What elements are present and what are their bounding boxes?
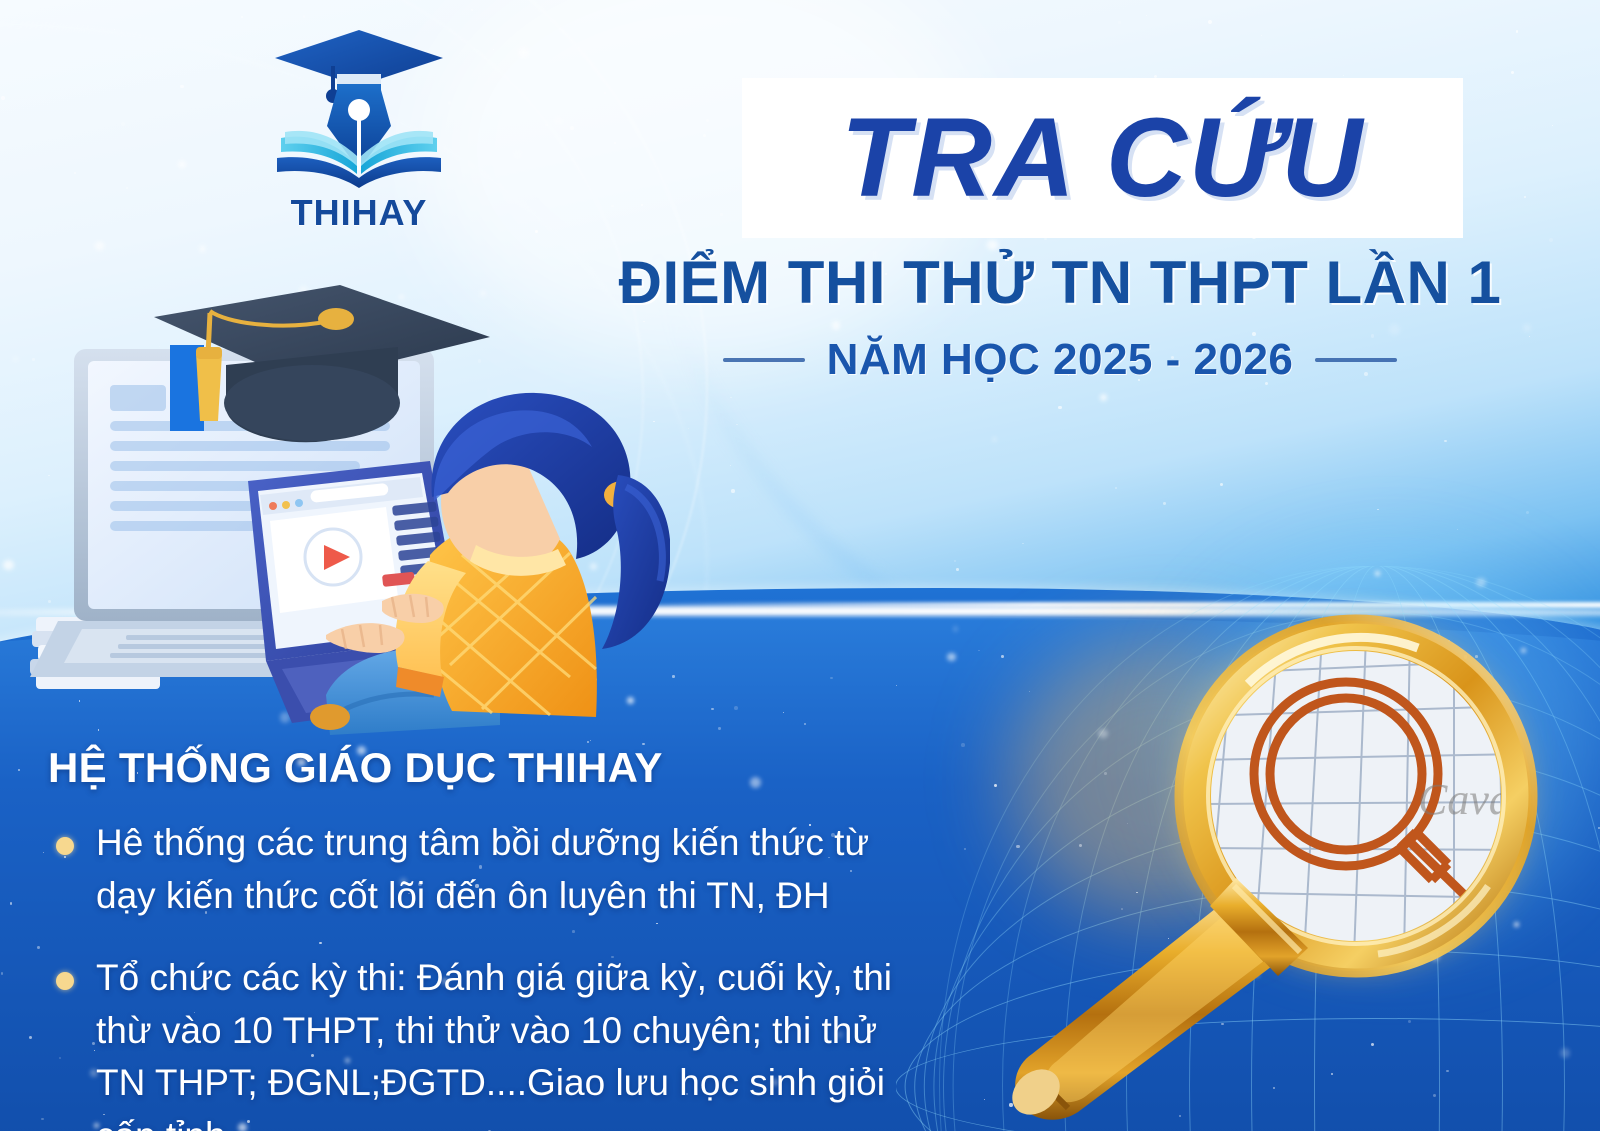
graduation-cap-pen-book-icon — [264, 18, 454, 190]
list-item-text: Hê thống các trung tâm bồi dưỡng kiến th… — [96, 822, 869, 916]
school-year-label: NĂM HỌC 2025 - 2026 — [827, 338, 1294, 382]
school-year-row: NĂM HỌC 2025 - 2026 — [560, 338, 1560, 382]
brand-logo: THIHAY — [264, 18, 454, 233]
list-item-text: Tổ chức các kỳ thi: Đánh giá giữa kỳ, cu… — [96, 957, 892, 1131]
magnifying-glass-icon: Cava — [948, 556, 1600, 1131]
bullet-dot-icon — [56, 837, 74, 855]
info-heading: HỆ THỐNG GIÁO DỤC THIHAY — [48, 745, 928, 791]
info-block: HỆ THỐNG GIÁO DỤC THIHAY Hê thống các tr… — [48, 745, 928, 1131]
bullet-dot-icon — [56, 972, 74, 990]
page-subtitle: ĐIỂM THI THỬ TN THPT LẦN 1 — [560, 253, 1560, 313]
list-item: Hê thống các trung tâm bồi dưỡng kiến th… — [48, 817, 928, 922]
graduation-cap-illustration — [154, 285, 490, 442]
page-title: TRA CỨU — [742, 78, 1463, 238]
dash-right-decoration — [1315, 358, 1397, 362]
dash-left-decoration — [723, 358, 805, 362]
info-bullet-list: Hê thống các trung tâm bồi dưỡng kiến th… — [48, 817, 928, 1131]
poster-root: THIHAY — [0, 0, 1600, 1131]
list-item: Tổ chức các kỳ thi: Đánh giá giữa kỳ, cu… — [48, 952, 928, 1131]
lens-watermark: Cava — [1418, 775, 1511, 824]
